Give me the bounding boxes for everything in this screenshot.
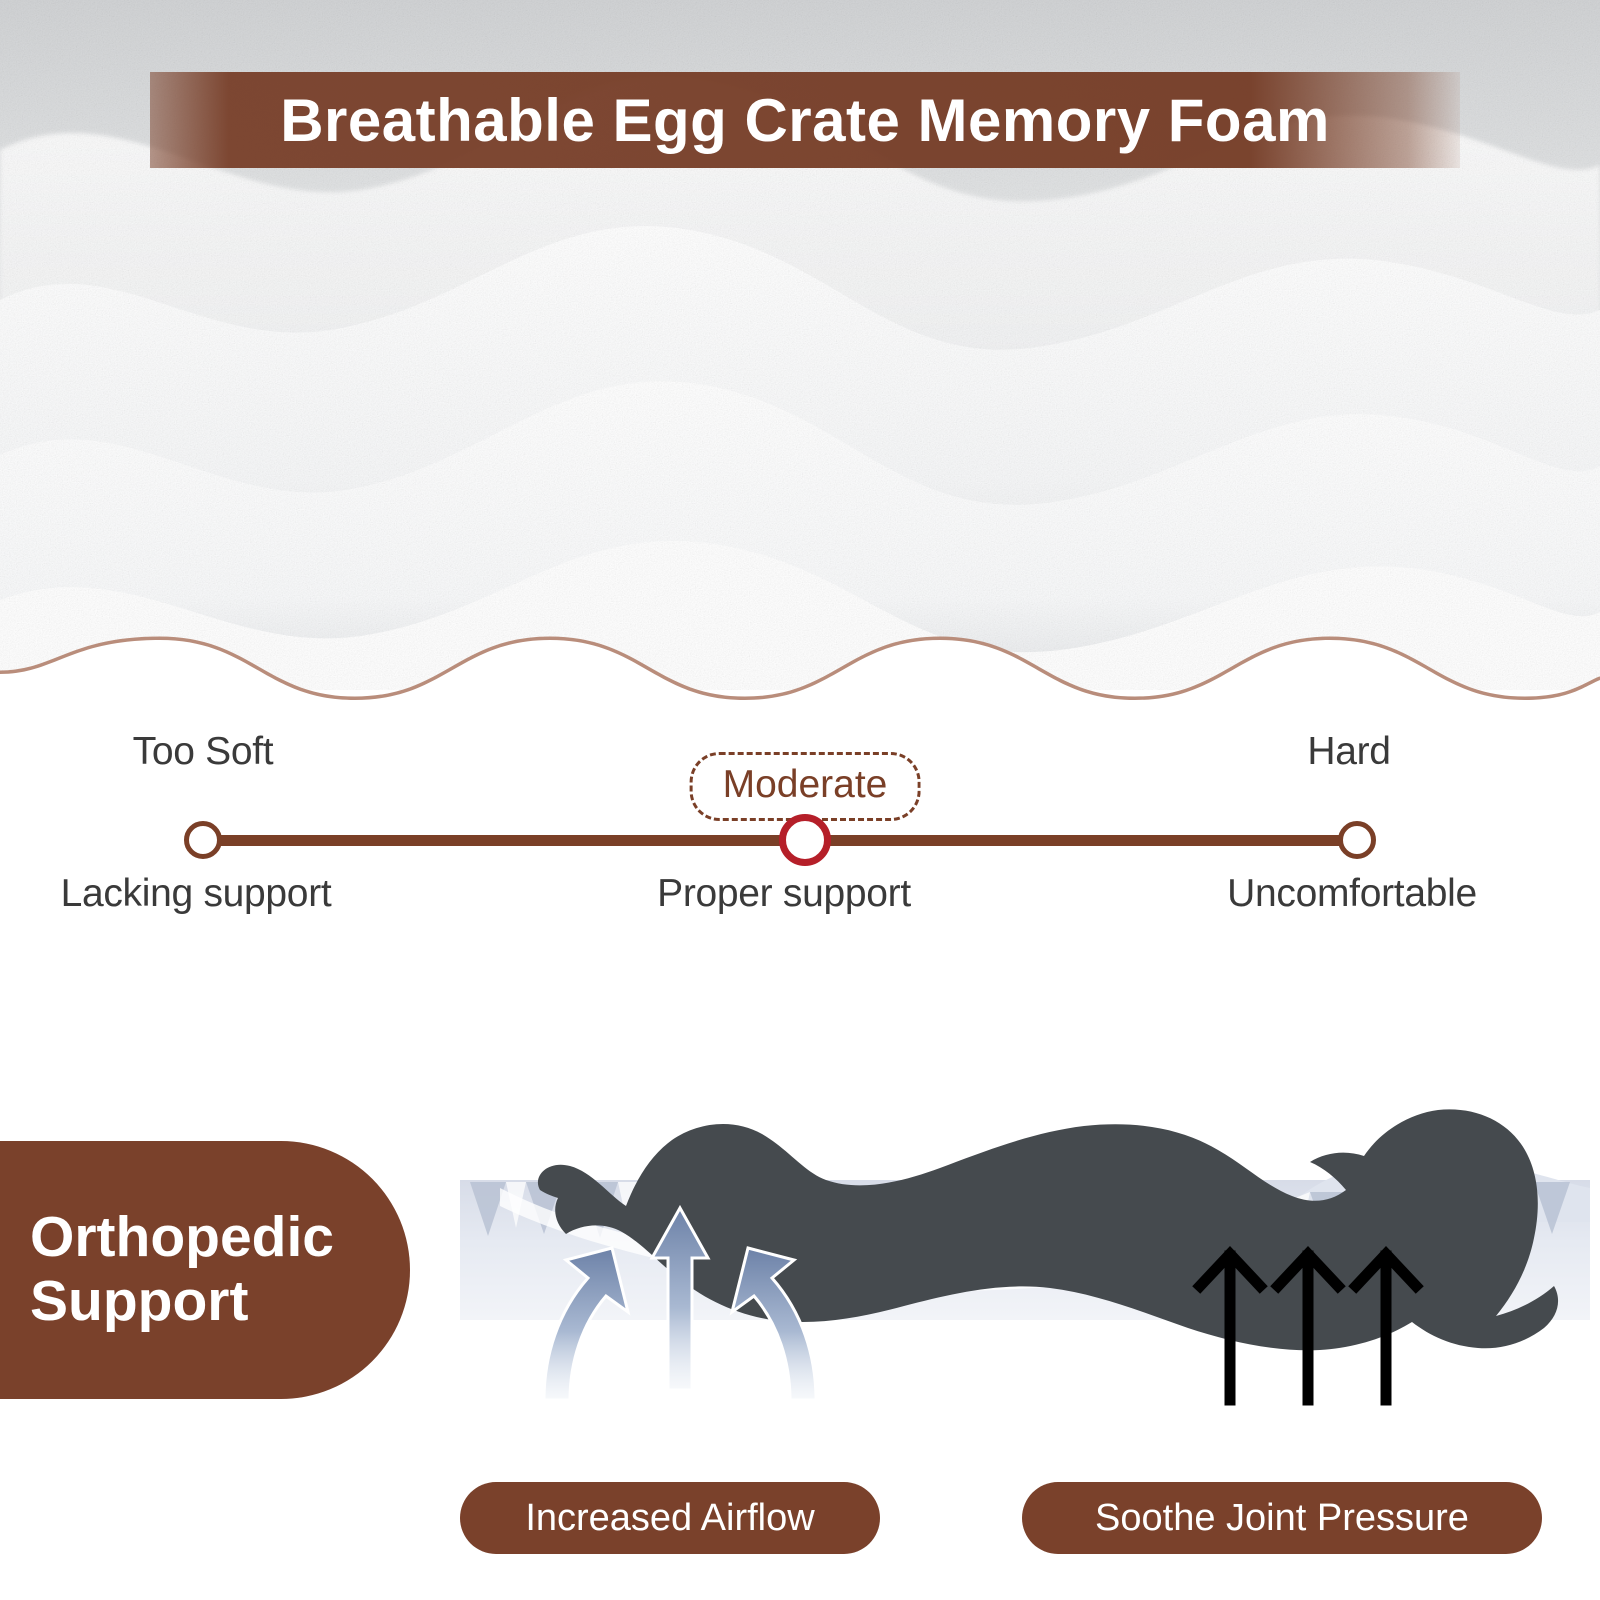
slider-selected-knob[interactable]: [779, 814, 831, 866]
feature-pill-label: Soothe Joint Pressure: [1095, 1497, 1469, 1540]
scale-sublabel-proper-support: Proper support: [657, 872, 911, 916]
feature-pill-label: Increased Airflow: [525, 1497, 814, 1540]
scale-bottom-labels: Lacking support Proper support Uncomfort…: [0, 872, 1600, 932]
scale-sublabel-uncomfortable: Uncomfortable: [1227, 872, 1477, 916]
page-title: Breathable Egg Crate Memory Foam: [280, 86, 1330, 155]
orthopedic-badge-line1: Orthopedic: [30, 1206, 410, 1270]
slider-endpoint-left[interactable]: [184, 821, 222, 859]
dog-on-mattress-illustration: [440, 1010, 1600, 1480]
scale-label-hard: Hard: [1307, 730, 1390, 774]
scale-sublabel-lacking-support: Lacking support: [61, 872, 332, 916]
firmness-slider[interactable]: [0, 810, 1600, 880]
orthopedic-badge-line2: Support: [30, 1270, 410, 1334]
slider-endpoint-right[interactable]: [1338, 821, 1376, 859]
scale-top-labels: Too Soft Moderate Hard: [0, 730, 1600, 790]
orthopedic-support-badge: Orthopedic Support: [0, 1141, 410, 1399]
feature-pill-soothe-joint-pressure[interactable]: Soothe Joint Pressure: [1022, 1482, 1542, 1554]
scale-label-too-soft: Too Soft: [133, 730, 274, 774]
title-banner: Breathable Egg Crate Memory Foam: [150, 72, 1460, 168]
pressure-arrows: [1200, 1254, 1416, 1400]
feature-pill-increased-airflow[interactable]: Increased Airflow: [460, 1482, 880, 1554]
firmness-scale: Too Soft Moderate Hard Lacking support P…: [0, 700, 1600, 960]
infographic-page: Breathable Egg Crate Memory Foam Too Sof…: [0, 0, 1600, 1600]
